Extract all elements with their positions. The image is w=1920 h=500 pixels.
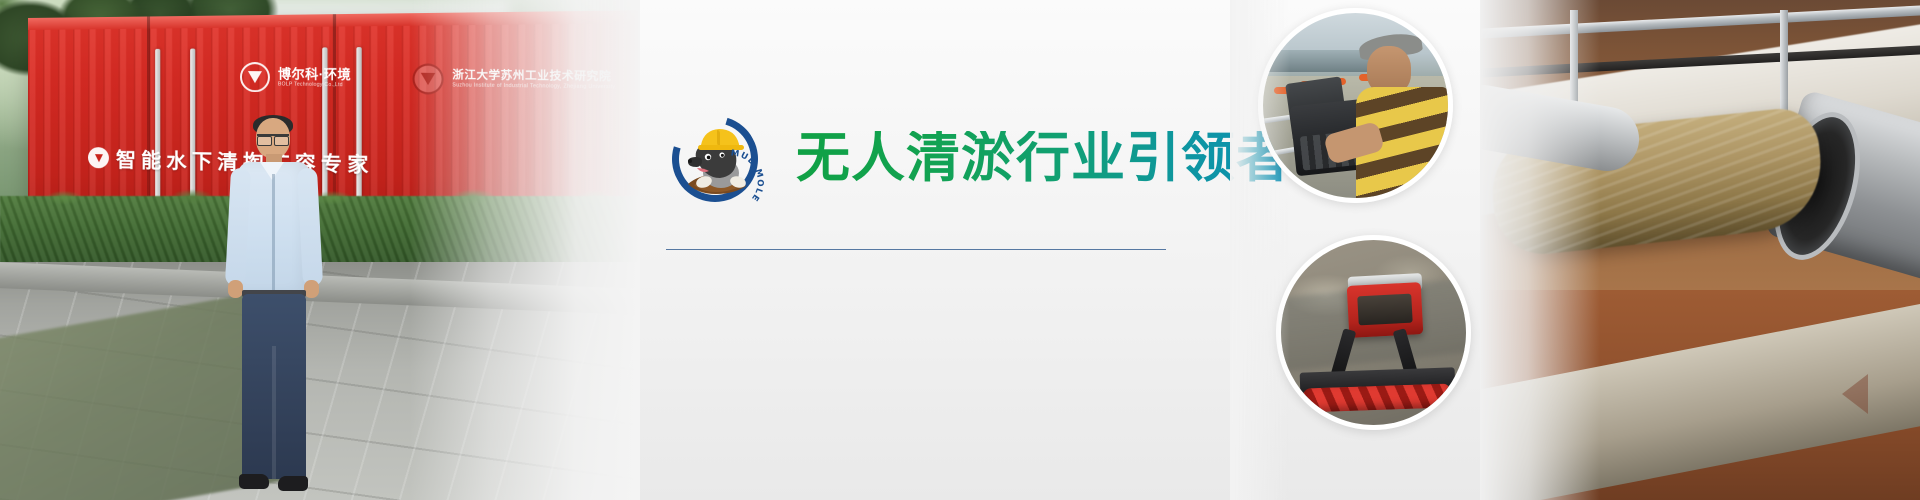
company-seal-icon bbox=[240, 62, 270, 92]
sludge-discharge-pipe-photo bbox=[1480, 0, 1920, 500]
glasses-icon bbox=[257, 134, 289, 142]
container-door-handle bbox=[190, 49, 195, 202]
company-name-cn: 博尔科·环境 bbox=[278, 67, 351, 81]
right-media-group bbox=[1230, 0, 1920, 500]
right-shoe bbox=[278, 476, 308, 491]
robot-chassis bbox=[1346, 282, 1423, 338]
trousers bbox=[242, 294, 306, 479]
shirt-placket bbox=[272, 174, 275, 290]
engineer-figure bbox=[222, 118, 342, 500]
arc-text-path: MUD MOLE bbox=[730, 148, 765, 203]
left-hand bbox=[228, 280, 243, 298]
mole-hardhat-logo-icon: MUD MOLE bbox=[670, 110, 774, 206]
container-door-handle bbox=[155, 49, 160, 201]
right-hand bbox=[304, 280, 319, 298]
pipe-photo-left-fade bbox=[1480, 0, 1600, 500]
right-group-left-fade bbox=[1230, 0, 1290, 500]
svg-text:MUD MOLE: MUD MOLE bbox=[730, 148, 765, 203]
title-divider bbox=[666, 249, 1166, 250]
page-title: 无人清淤行业引领者 bbox=[796, 131, 1291, 185]
arrow-shape-icon bbox=[1842, 374, 1868, 414]
hero-banner: 博尔科·环境 BOLP Technology Co.,Ltd 浙江大学苏州工业技… bbox=[0, 0, 1920, 500]
container-and-engineer-photo: 博尔科·环境 BOLP Technology Co.,Ltd 浙江大学苏州工业技… bbox=[0, 0, 640, 500]
left-shoe bbox=[239, 474, 269, 489]
slogan-badge-icon bbox=[88, 147, 109, 168]
company-name-en: BOLP Technology Co.,Ltd bbox=[278, 83, 351, 89]
company-brand-block: 博尔科·环境 BOLP Technology Co.,Ltd bbox=[240, 62, 351, 93]
logo-arc-text: MUD MOLE bbox=[726, 150, 782, 206]
left-photo-fade bbox=[410, 0, 640, 500]
dredging-robot-photo bbox=[1276, 235, 1471, 430]
logo-and-headline-row: MUD MOLE 无人清淤行业引领者 bbox=[670, 110, 1291, 206]
center-content: MUD MOLE 无人清淤行业引领者 bbox=[660, 0, 1280, 500]
